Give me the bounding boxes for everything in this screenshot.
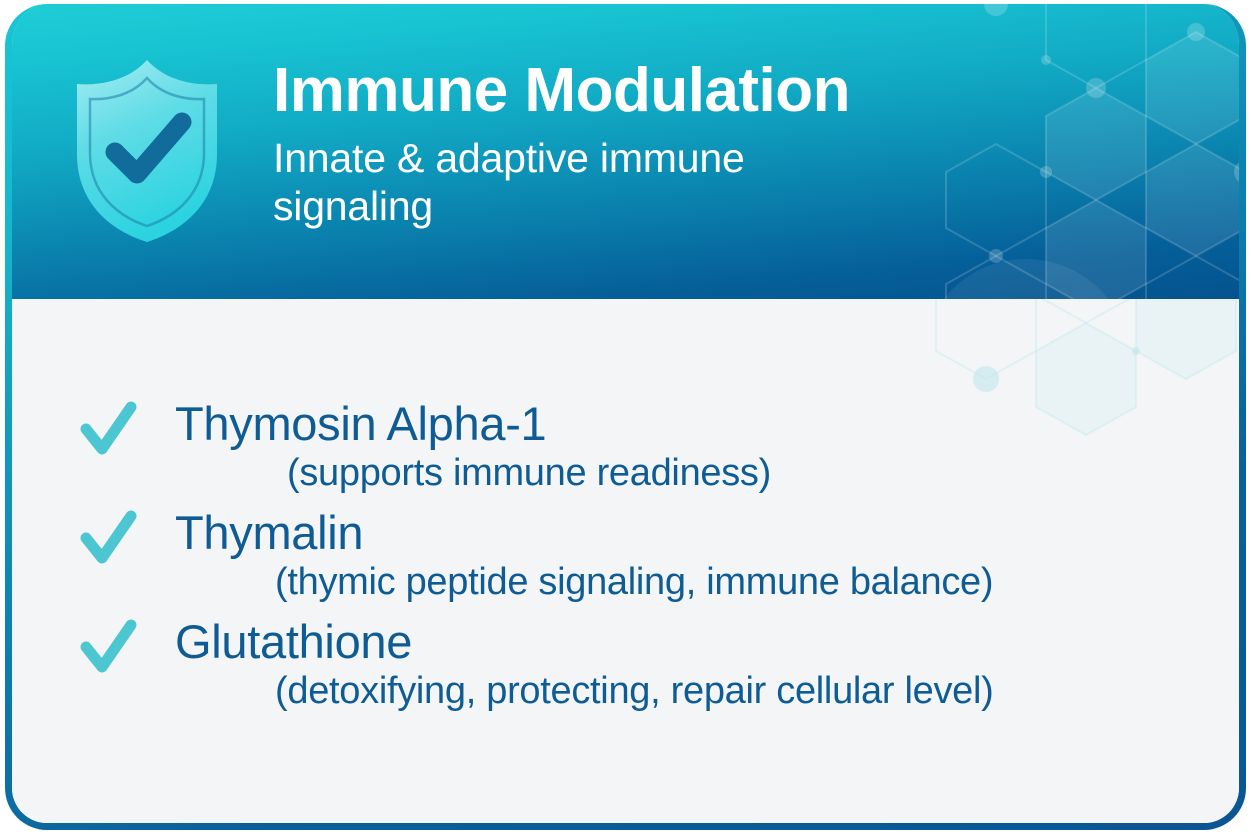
header-text-block: Immune Modulation Innate & adaptive immu… xyxy=(273,60,1246,231)
card-body: Thymosin Alpha-1 (supports immune readin… xyxy=(5,299,1246,830)
list-item: Thymosin Alpha-1 (supports immune readin… xyxy=(5,395,1246,498)
list-item-name: Thymalin xyxy=(175,504,1246,561)
list-item-description: (detoxifying, protecting, repair cellula… xyxy=(275,668,1246,716)
page-subtitle: Innate & adaptive immune signaling xyxy=(273,134,913,231)
list-item-description: (thymic peptide signaling, immune balanc… xyxy=(275,559,1246,607)
list-item-name: Glutathione xyxy=(175,613,1246,670)
card-header: Immune Modulation Innate & adaptive immu… xyxy=(5,4,1246,299)
checkmark-icon xyxy=(79,401,137,459)
list-item: Thymalin (thymic peptide signaling, immu… xyxy=(5,504,1246,607)
page-title: Immune Modulation xyxy=(273,60,1246,122)
immune-modulation-card: Immune Modulation Innate & adaptive immu… xyxy=(5,4,1246,830)
checkmark-icon xyxy=(79,619,137,677)
checkmark-icon xyxy=(79,510,137,568)
header-content: Immune Modulation Innate & adaptive immu… xyxy=(5,4,1246,299)
list-item-name: Thymosin Alpha-1 xyxy=(175,395,1246,452)
list-item: Glutathione (detoxifying, protecting, re… xyxy=(5,613,1246,716)
list-item-description: (supports immune readiness) xyxy=(287,450,1246,498)
shield-check-icon xyxy=(67,56,227,246)
peptide-list: Thymosin Alpha-1 (supports immune readin… xyxy=(5,299,1246,723)
